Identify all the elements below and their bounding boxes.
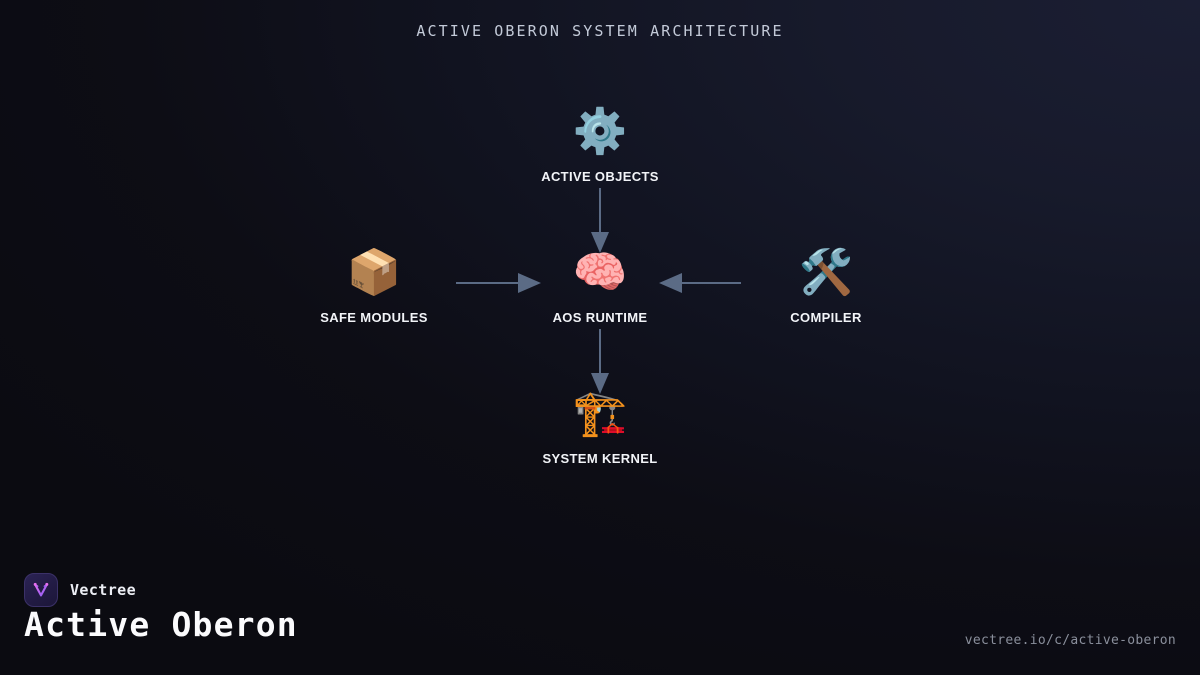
footer: Vectree Active Oberon vectree.io/c/activ… <box>0 555 1200 675</box>
brain-icon: 🧠 <box>500 246 700 302</box>
architecture-diagram: ⚙️ ACTIVE OBJECTS 📦 SAFE MODULES 🧠 AOS R… <box>0 60 1200 530</box>
footer-title: Active Oberon <box>24 605 298 644</box>
diagram-node-label: SAFE MODULES <box>274 310 474 325</box>
diagram-node-safe-modules[interactable]: 📦 SAFE MODULES <box>274 246 474 325</box>
slide-canvas: ACTIVE OBERON SYSTEM ARCHITECTURE <box>0 0 1200 675</box>
diagram-node-aos-runtime[interactable]: 🧠 AOS RUNTIME <box>500 246 700 325</box>
brand-name: Vectree <box>70 581 136 599</box>
vectree-v-glyph <box>31 580 51 600</box>
diagram-node-active-objects[interactable]: ⚙️ ACTIVE OBJECTS <box>500 105 700 184</box>
diagram-node-label: SYSTEM KERNEL <box>500 451 700 466</box>
diagram-node-system-kernel[interactable]: 🏗️ SYSTEM KERNEL <box>500 387 700 466</box>
package-box-icon: 📦 <box>274 246 474 302</box>
diagram-node-compiler[interactable]: 🛠️ COMPILER <box>726 246 926 325</box>
gear-icon: ⚙️ <box>500 105 700 161</box>
diagram-node-label: ACTIVE OBJECTS <box>500 169 700 184</box>
edge-active-objects-to-aos-runtime <box>591 188 609 253</box>
hammer-and-wrench-icon: 🛠️ <box>726 246 926 302</box>
construction-crane-icon: 🏗️ <box>500 387 700 443</box>
vectree-v-logo-icon <box>24 573 58 607</box>
edge-aos-runtime-to-system-kernel <box>591 329 609 394</box>
page-title: ACTIVE OBERON SYSTEM ARCHITECTURE <box>0 22 1200 40</box>
footer-url: vectree.io/c/active-oberon <box>965 633 1176 648</box>
brand-row: Vectree <box>24 573 136 607</box>
diagram-node-label: AOS RUNTIME <box>500 310 700 325</box>
diagram-node-label: COMPILER <box>726 310 926 325</box>
